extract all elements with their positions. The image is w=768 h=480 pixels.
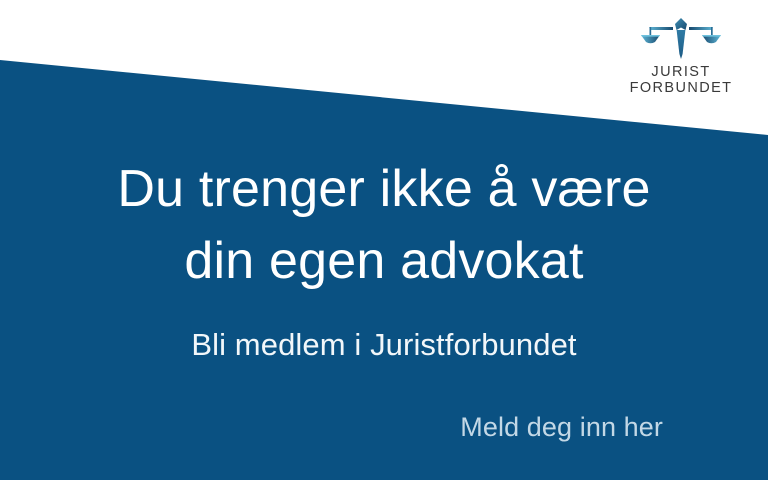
juristforbundet-logo[interactable]: JURIST FORBUNDET <box>620 14 742 96</box>
headline-line-1: Du trenger ikke å være <box>0 160 768 218</box>
advertisement-banner[interactable]: JURIST FORBUNDET Du trenger ikke å være … <box>0 0 768 480</box>
logo-wordmark-line-2: FORBUNDET <box>620 80 742 96</box>
subtitle-text: Bli medlem i Juristforbundet <box>0 326 768 364</box>
headline-line-2: din egen advokat <box>0 232 768 290</box>
logo-wordmark-line-1: JURIST <box>620 64 742 80</box>
signup-cta-link[interactable]: Meld deg inn her <box>460 410 663 444</box>
scales-of-justice-icon <box>639 14 723 60</box>
